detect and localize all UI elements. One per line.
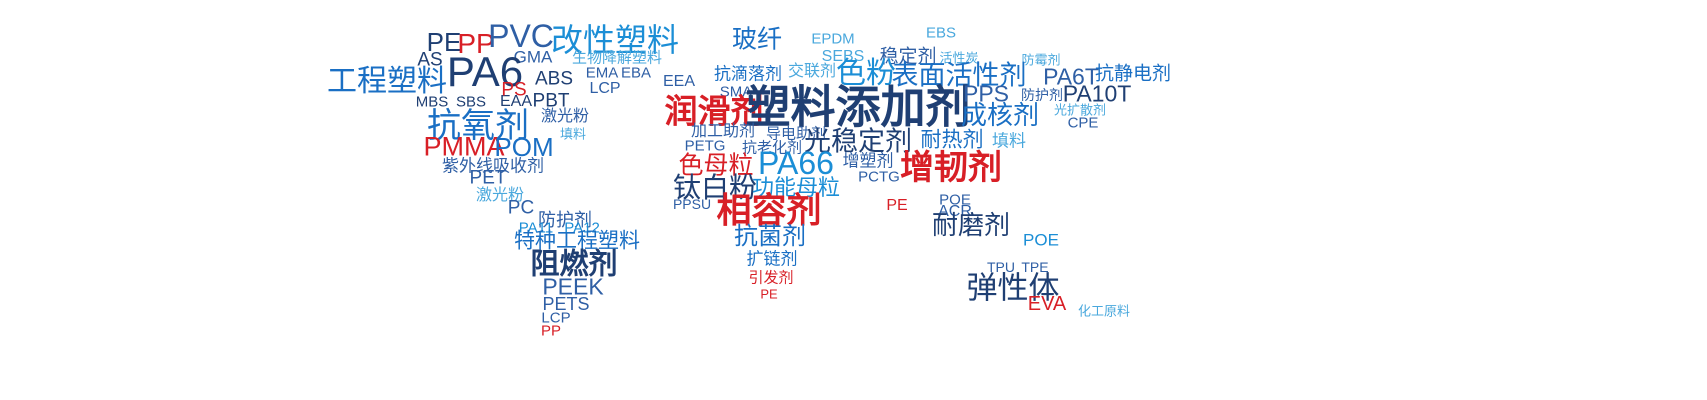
cloud-word[interactable]: 耐磨剂	[932, 212, 1010, 238]
cloud-word[interactable]: 塑料添加剂	[745, 85, 970, 130]
cloud-word[interactable]: POE	[1023, 232, 1059, 249]
cloud-word[interactable]: PE	[760, 288, 777, 301]
cloud-word[interactable]: PE	[886, 198, 907, 214]
cloud-word[interactable]: 填料	[560, 128, 586, 141]
cloud-word[interactable]: PP	[541, 324, 561, 339]
cloud-word[interactable]: EMA	[586, 66, 619, 81]
cloud-word[interactable]: 抗滴落剂	[714, 66, 782, 83]
cloud-word[interactable]: 玻纤	[732, 28, 782, 53]
cloud-word[interactable]: 成核剂	[961, 102, 1039, 128]
cloud-word[interactable]: EEA	[663, 74, 695, 90]
cloud-word[interactable]: 交联剂	[788, 64, 836, 80]
cloud-word[interactable]: ABS	[535, 70, 573, 89]
cloud-word[interactable]: PS	[501, 81, 526, 100]
cloud-word[interactable]: 扩链剂	[747, 251, 798, 268]
cloud-word[interactable]: 引发剂	[748, 271, 793, 286]
cloud-word[interactable]: 激光粉	[541, 109, 589, 125]
cloud-word[interactable]: EVA	[1028, 294, 1067, 314]
cloud-word[interactable]: EPDM	[811, 32, 854, 47]
cloud-word[interactable]: 耐热剂	[921, 130, 984, 151]
cloud-word[interactable]: 填料	[992, 133, 1026, 150]
cloud-word[interactable]: PET	[470, 169, 507, 188]
cloud-word[interactable]: PCTG	[858, 170, 900, 185]
cloud-word[interactable]: 生物降解塑料	[572, 51, 662, 66]
cloud-word[interactable]: 工程塑料	[327, 67, 447, 97]
cloud-word[interactable]: PC	[508, 199, 534, 218]
cloud-word[interactable]: EBS	[926, 26, 956, 41]
cloud-word[interactable]: EBA	[621, 66, 651, 81]
cloud-word[interactable]: 化工原料	[1078, 305, 1130, 318]
word-cloud-canvas: PEPPPVCGMA改性塑料生物降解塑料玻纤EPDMEBSSEBS稳定剂活性炭防…	[0, 0, 1707, 400]
cloud-word[interactable]: 增塑剂	[843, 153, 894, 170]
cloud-word[interactable]: 抗菌剂	[734, 225, 806, 249]
cloud-word[interactable]: 增韧剂	[900, 151, 1002, 185]
cloud-word[interactable]: CPE	[1068, 116, 1099, 131]
cloud-word[interactable]: PPSU	[673, 197, 711, 211]
cloud-word[interactable]: LCP	[589, 81, 620, 97]
